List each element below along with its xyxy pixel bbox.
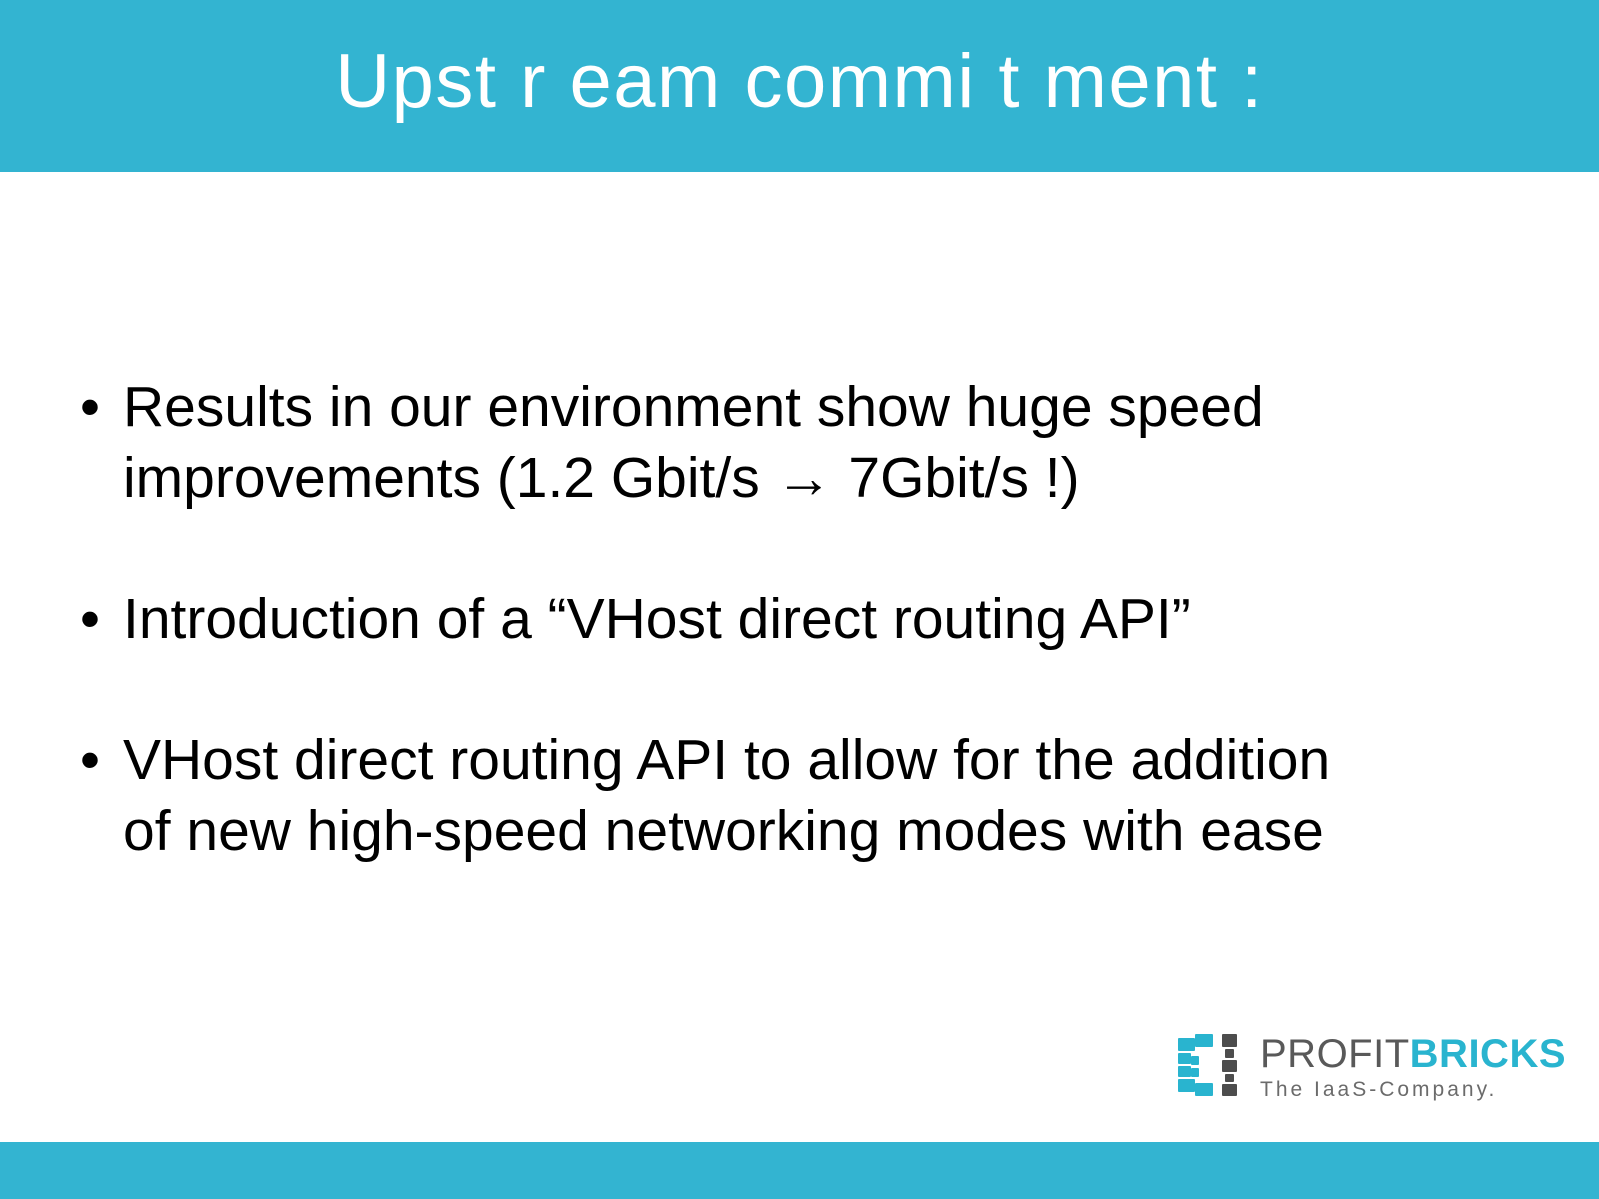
bullet-marker-icon: •	[60, 725, 123, 796]
list-item: • Introduction of a “VHost direct routin…	[60, 584, 1520, 655]
list-item: • VHost direct routing API to allow for …	[60, 725, 1520, 867]
page-title: Upst r eam commi t ment :	[0, 44, 1599, 120]
list-item-text: VHost direct routing API to allow for th…	[123, 725, 1520, 867]
list-item-text: Results in our environment show huge spe…	[123, 372, 1520, 514]
brick-mark-icon	[1176, 1032, 1248, 1098]
logo-word-bricks: BRICKS	[1410, 1032, 1566, 1076]
list-item: • Results in our environment show huge s…	[60, 372, 1520, 514]
logo-wordmark: PROFITBRICKS	[1260, 1033, 1566, 1075]
bullet-marker-icon: •	[60, 372, 123, 443]
logo-text-block: PROFITBRICKS The IaaS-Company.	[1260, 1032, 1566, 1103]
list-item-text: Introduction of a “VHost direct routing …	[123, 584, 1520, 655]
bullet-list: • Results in our environment show huge s…	[60, 372, 1520, 867]
logo-tagline: The IaaS-Company.	[1260, 1077, 1566, 1103]
logo-word-profit: PROFIT	[1260, 1032, 1410, 1076]
footer-band	[0, 1142, 1599, 1199]
profitbricks-logo: PROFITBRICKS The IaaS-Company.	[1176, 1032, 1566, 1103]
slide: Upst r eam commi t ment : • Results in o…	[0, 0, 1599, 1199]
bullet-marker-icon: •	[60, 584, 123, 655]
